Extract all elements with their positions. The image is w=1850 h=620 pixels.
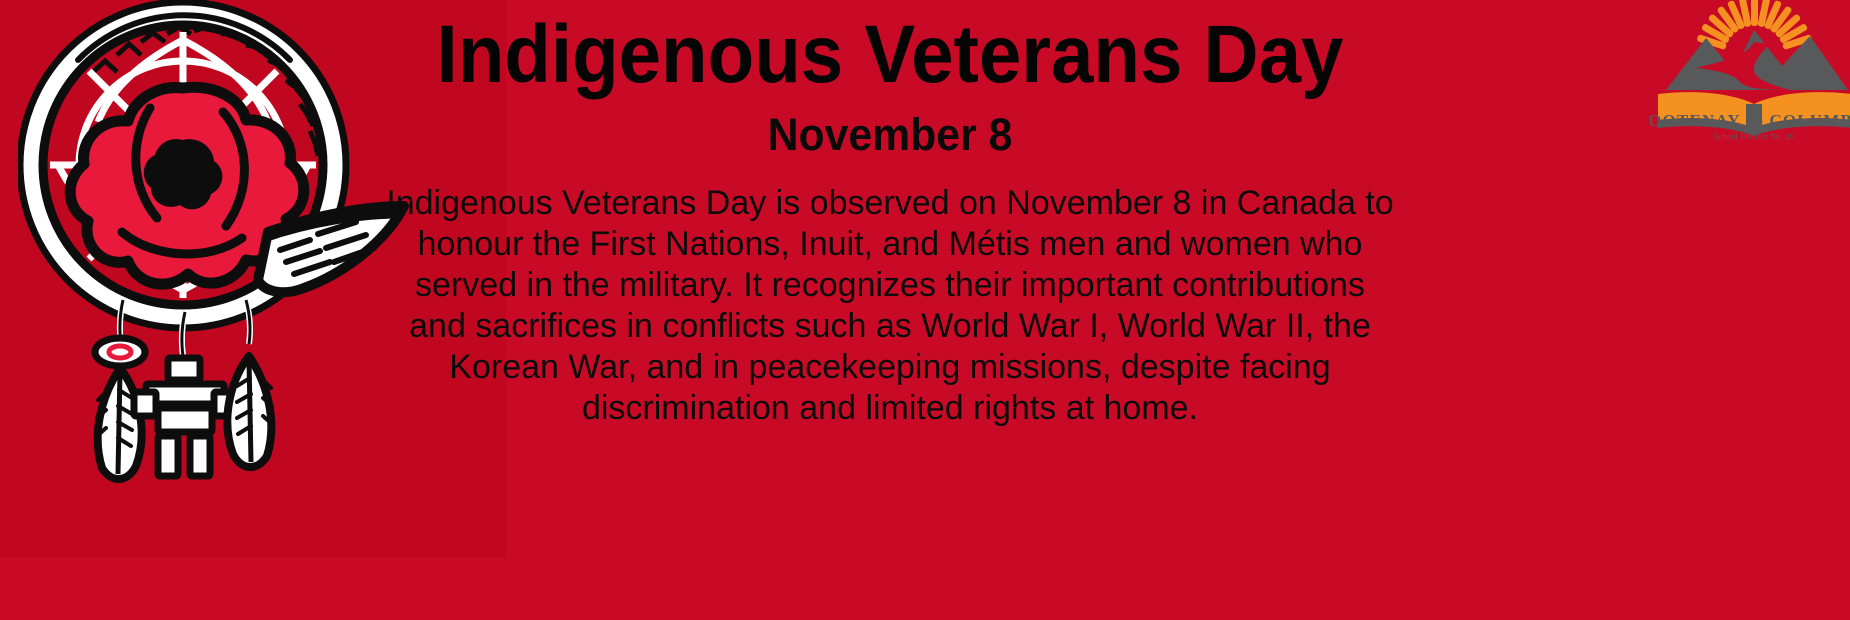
text-content: Indigenous Veterans Day November 8 Indig… <box>400 0 1380 429</box>
inukshuk-pendant <box>134 358 236 476</box>
page-subtitle: November 8 <box>425 112 1356 157</box>
body-paragraph: Indigenous Veterans Day is observed on N… <box>385 183 1395 429</box>
logo-district-name: KOOTENAY — COLUMBIA <box>1650 111 1850 130</box>
logo-district-subtitle: School District No. 20 <box>1714 132 1795 141</box>
dreamcatcher-poppy-illustration <box>18 0 418 485</box>
indigenous-veterans-day-banner: Indigenous Veterans Day November 8 Indig… <box>0 0 1850 620</box>
feather-pendant-right <box>227 356 272 467</box>
school-district-logo: KOOTENAY — COLUMBIA School District No. … <box>1650 0 1850 146</box>
page-title: Indigenous Veterans Day <box>434 14 1345 96</box>
